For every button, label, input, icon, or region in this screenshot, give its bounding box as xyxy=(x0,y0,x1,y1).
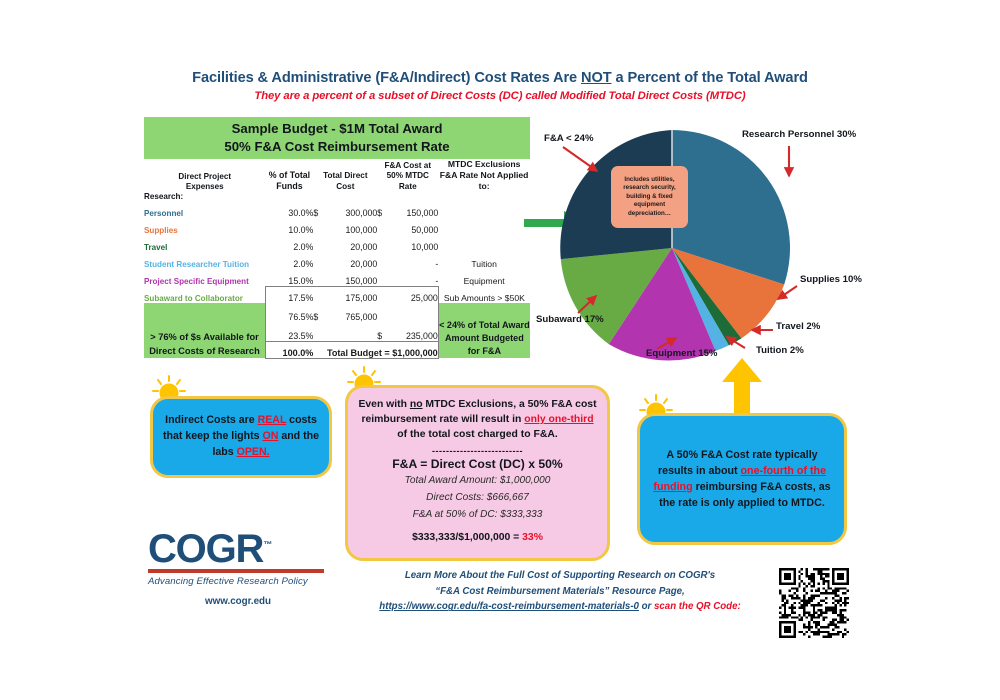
sample-budget-table: Sample Budget - $1M Total Award 50% F&A … xyxy=(144,117,530,359)
row-exclusion xyxy=(438,235,530,252)
table-row: Personnel 30.0% $ 300,000 $ 150,000 xyxy=(144,201,530,218)
callout-blue-left-text: Indirect Costs are REAL costs that keep … xyxy=(153,413,329,460)
subtotal-dc-symbol: $ xyxy=(313,303,327,322)
col-header-expenses: Direct ProjectExpenses xyxy=(144,159,266,192)
callout-pink-award-line: Total Award Amount: $1,000,000 xyxy=(358,474,597,488)
page-subtitle: They are a percent of a subset of Direct… xyxy=(0,90,1000,102)
row-fa: 150,000 xyxy=(390,201,438,218)
row-fa-symbol xyxy=(377,218,390,235)
emphasis-open: OPEN. xyxy=(237,446,270,458)
cogr-logo: COGR™ Advancing Effective Research Polic… xyxy=(148,530,328,607)
table-body: Research: Personnel 30.0% $ 300,000 $ 15… xyxy=(144,192,530,358)
budget-table: Direct ProjectExpenses % of TotalFunds T… xyxy=(144,159,530,359)
table-header-line2: 50% F&A Cost Reimbursement Rate xyxy=(144,138,530,156)
qr-code xyxy=(779,568,849,638)
row-fa: - xyxy=(390,269,438,286)
row-exclusion: Sub Amounts > $50K xyxy=(438,286,530,303)
footer-line1: Learn More About the Full Cost of Suppor… xyxy=(405,570,715,581)
subtotal-dc-pct: 76.5% xyxy=(266,303,314,322)
callout-blue-right-text: A 50% F&A Cost rate typically results in… xyxy=(640,447,844,511)
table-row: Subaward to Collaborator 17.5% 175,000 2… xyxy=(144,286,530,303)
row-tdc-symbol xyxy=(313,218,327,235)
pie-label-equipment: Equipment 15% xyxy=(646,348,717,359)
row-tdc: 300,000 xyxy=(327,201,377,218)
pie-label-subaward: Subaward 17% xyxy=(536,314,604,325)
yellow-up-arrow-icon xyxy=(722,358,762,414)
pie-label-fa: F&A < 24% xyxy=(544,133,594,144)
row-label: Supplies xyxy=(144,218,266,235)
row-tdc-symbol xyxy=(313,252,327,269)
row-fa-symbol xyxy=(377,269,390,286)
row-label: Student Researcher Tuition xyxy=(144,252,266,269)
row-tdc: 100,000 xyxy=(327,218,377,235)
footer-scan-text: scan the QR Code: xyxy=(654,601,741,612)
table-row-group-header: Research: xyxy=(144,192,530,201)
budget-pie-chart xyxy=(552,128,792,368)
subtotal-fa-pct: 23.5% xyxy=(266,322,314,341)
row-pct: 2.0% xyxy=(266,235,314,252)
table-header: Sample Budget - $1M Total Award 50% F&A … xyxy=(144,117,530,159)
row-fa: 10,000 xyxy=(390,235,438,252)
summary-right-box: < 24% of Total Award Amount Budgeted for… xyxy=(438,303,530,358)
row-label: Personnel xyxy=(144,201,266,218)
row-fa: 50,000 xyxy=(390,218,438,235)
row-tdc-symbol xyxy=(313,235,327,252)
callout-pink-formula: F&A = Direct Cost (DC) x 50% xyxy=(358,457,597,471)
row-fa-symbol xyxy=(377,235,390,252)
row-label: Subaward to Collaborator xyxy=(144,286,266,303)
row-exclusion xyxy=(438,218,530,235)
row-label: Travel xyxy=(144,235,266,252)
infographic-page: Facilities & Administrative (F&A/Indirec… xyxy=(0,0,1000,700)
row-exclusion: Tuition xyxy=(438,252,530,269)
emphasis-no: no xyxy=(410,399,423,410)
callout-pink: Even with no MTDC Exclusions, a 50% F&A … xyxy=(345,385,610,561)
emphasis-on: ON xyxy=(262,430,278,442)
callout-blue-right: A 50% F&A Cost rate typically results in… xyxy=(637,413,847,545)
row-pct: 2.0% xyxy=(266,252,314,269)
col-header-pct: % of TotalFunds xyxy=(266,159,314,192)
emphasis-real: REAL xyxy=(258,414,287,426)
row-fa-symbol xyxy=(377,286,390,303)
row-pct: 30.0% xyxy=(266,201,314,218)
callout-blue-left: Indirect Costs are REAL costs that keep … xyxy=(150,396,332,478)
table-summary-row: > 76% of $s Available for Direct Costs o… xyxy=(144,303,530,322)
footer-link[interactable]: https://www.cogr.edu/fa-cost-reimburseme… xyxy=(379,601,639,612)
ratio-value: 33% xyxy=(522,532,543,543)
row-pct: 17.5% xyxy=(266,286,314,303)
group-label-research: Research: xyxy=(144,192,266,201)
col-header-exclusions: MTDC ExclusionsF&A Rate Not Applied to: xyxy=(438,159,530,192)
title-emphasis-not: NOT xyxy=(581,70,612,86)
callout-pink-fa-line: F&A at 50% of DC: $333,333 xyxy=(358,508,597,522)
callout-pink-dc-line: Direct Costs: $666,667 xyxy=(358,491,597,505)
row-label: Project Specific Equipment xyxy=(144,269,266,286)
summary-left-box: > 76% of $s Available for Direct Costs o… xyxy=(144,303,266,358)
table-row: Travel 2.0% 20,000 10,000 xyxy=(144,235,530,252)
pie-label-tuition: Tuition 2% xyxy=(756,345,804,356)
table-column-headers: Direct ProjectExpenses % of TotalFunds T… xyxy=(144,159,530,192)
title-block: Facilities & Administrative (F&A/Indirec… xyxy=(0,70,1000,102)
total-pct: 100.0% xyxy=(266,341,314,358)
row-tdc: 175,000 xyxy=(327,286,377,303)
subtotal-dc-value: 765,000 xyxy=(327,303,377,322)
row-fa-symbol: $ xyxy=(377,201,390,218)
pie-annotation-callout: Includes utilities, research security, b… xyxy=(611,166,688,228)
table-row: Supplies 10.0% 100,000 50,000 xyxy=(144,218,530,235)
row-pct: 15.0% xyxy=(266,269,314,286)
page-title: Facilities & Administrative (F&A/Indirec… xyxy=(0,70,1000,86)
row-pct: 10.0% xyxy=(266,218,314,235)
callout-pink-ratio: $333,333/$1,000,000 = 33% xyxy=(358,532,597,543)
row-exclusion: Equipment xyxy=(438,269,530,286)
callout-pink-divider: -------------------------- xyxy=(358,446,597,456)
row-tdc-symbol xyxy=(313,269,327,286)
row-tdc: 20,000 xyxy=(327,252,377,269)
row-tdc: 150,000 xyxy=(327,269,377,286)
col-header-fa: F&A Cost at50% MTDCRate xyxy=(377,159,438,192)
row-fa: - xyxy=(390,252,438,269)
footer-text: Learn More About the Full Cost of Suppor… xyxy=(352,568,768,615)
row-tdc: 20,000 xyxy=(327,235,377,252)
logo-wordmark: COGR™ xyxy=(148,530,328,568)
logo-url[interactable]: www.cogr.edu xyxy=(148,596,328,607)
subtotal-fa-symbol: $ xyxy=(377,322,390,341)
footer-line2: “F&A Cost Reimbursement Materials” Resou… xyxy=(435,586,684,597)
row-fa-symbol xyxy=(377,252,390,269)
row-tdc-symbol: $ xyxy=(313,201,327,218)
emphasis-one-third: only one-third xyxy=(524,414,593,425)
row-fa: 25,000 xyxy=(390,286,438,303)
subtotal-fa-value: 235,000 xyxy=(390,322,438,341)
pie-label-travel: Travel 2% xyxy=(776,321,820,332)
col-header-tdc: Total DirectCost xyxy=(313,159,377,192)
row-exclusion xyxy=(438,201,530,218)
row-tdc-symbol xyxy=(313,286,327,303)
table-header-line1: Sample Budget - $1M Total Award xyxy=(144,120,530,138)
table-row: Student Researcher Tuition 2.0% 20,000 -… xyxy=(144,252,530,269)
table-row: Project Specific Equipment 15.0% 150,000… xyxy=(144,269,530,286)
pie-label-supplies: Supplies 10% xyxy=(800,274,862,285)
logo-tagline: Advancing Effective Research Policy xyxy=(148,576,328,587)
callout-pink-paragraph: Even with no MTDC Exclusions, a 50% F&A … xyxy=(358,397,597,443)
pie-label-personnel: Research Personnel 30% xyxy=(742,129,856,140)
total-label: Total Budget = $1,000,000 xyxy=(313,341,438,358)
trademark-symbol: ™ xyxy=(263,540,271,550)
